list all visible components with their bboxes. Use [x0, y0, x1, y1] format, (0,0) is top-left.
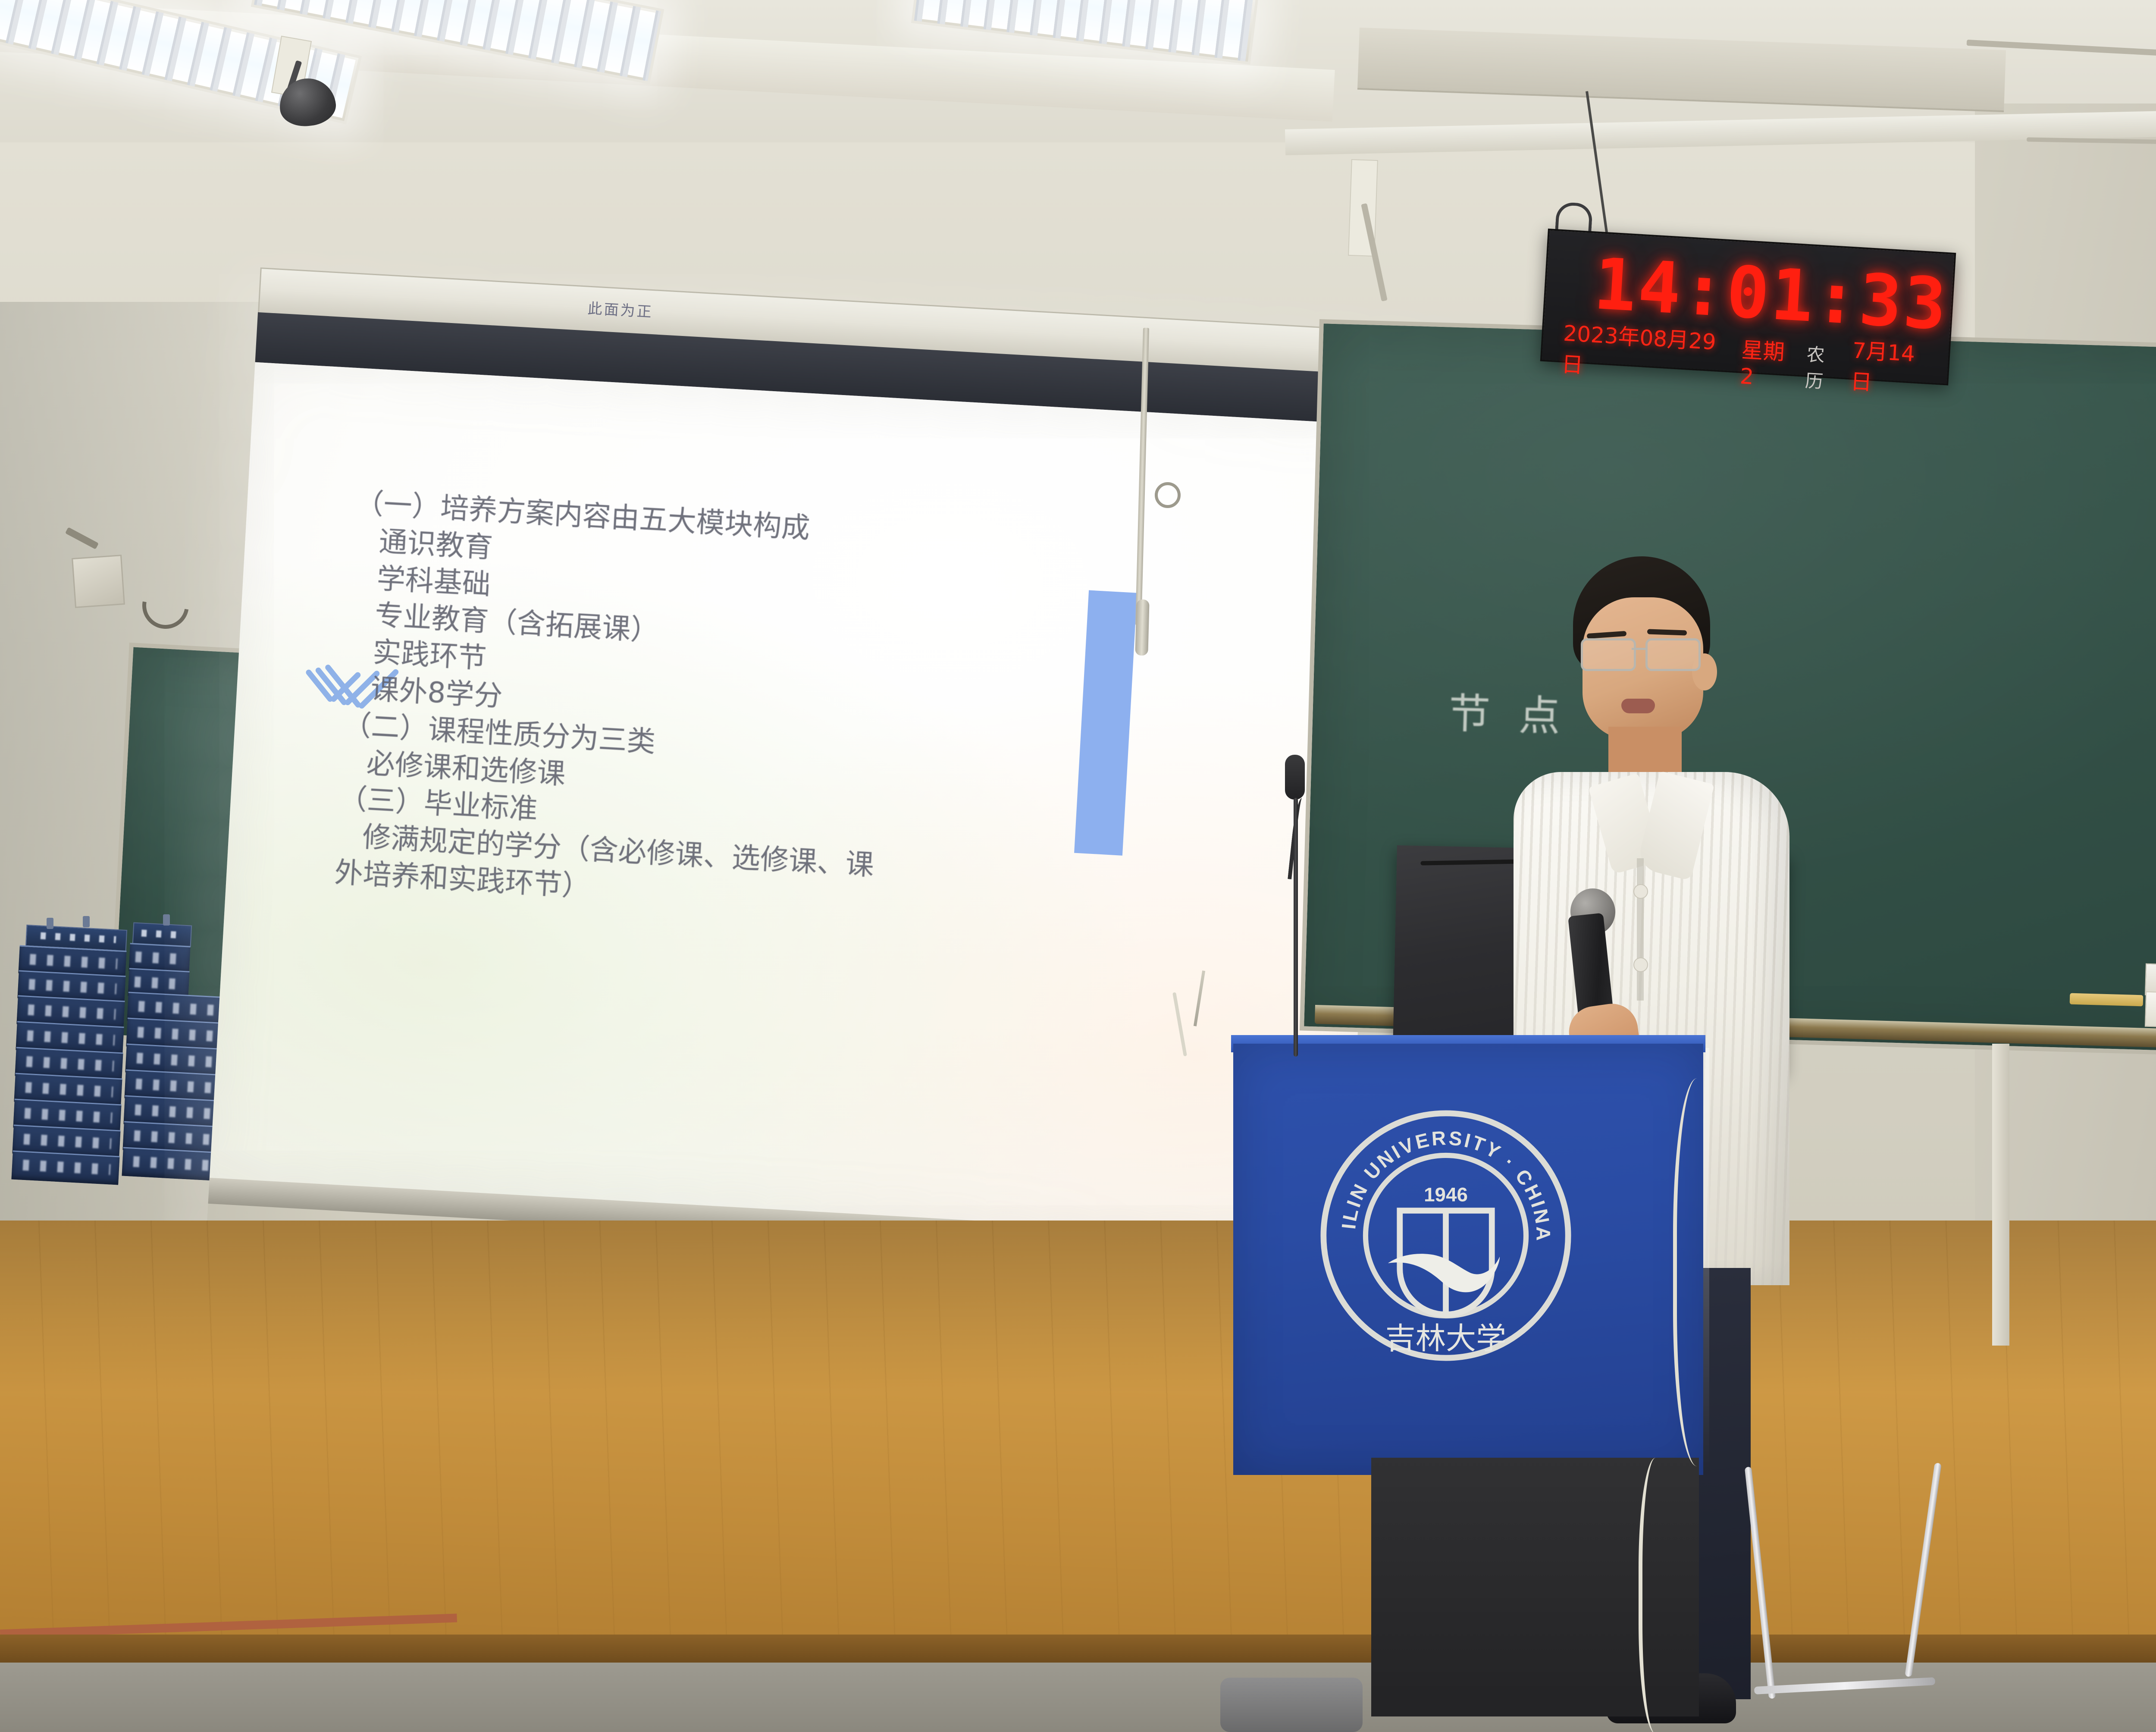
- slide-text-block: （一）培养方案内容由五大模块构成 通识教育 学科基础 专业教育（含拓展课） 实践…: [333, 484, 1260, 941]
- floor-power-cable: [1639, 1458, 1681, 1732]
- classroom-scene: 此面为正 （一）培养方案内容由五大模块构成: [0, 0, 2156, 1732]
- wall-speaker-icon: [72, 555, 125, 608]
- screen-pull-ring[interactable]: [1155, 482, 1181, 508]
- wall-board-hook: [47, 918, 53, 929]
- clock-weekday: 星期2: [1739, 333, 1798, 392]
- jilin-university-emblem-icon: JILIN UNIVERSITY · CHINA 1946 吉林大学: [1314, 1104, 1577, 1367]
- chalk-stick: [2070, 993, 2143, 1007]
- chalk-box[interactable]: [2145, 992, 2156, 1028]
- svg-text:JILIN UNIVERSITY · CHINA: JILIN UNIVERSITY · CHINA: [1314, 1104, 1554, 1243]
- glasses-lens: [1645, 638, 1701, 671]
- screen-surface: （一）培养方案内容由五大模块构成 通识教育 学科基础 专业教育（含拓展课） 实践…: [210, 362, 1392, 1244]
- screen-pull-handle[interactable]: [1135, 599, 1149, 656]
- wall-board-panel: [11, 1151, 119, 1185]
- led-clock: 14:01:33 2023年08月29日 星期2 农历 7月14日: [1540, 229, 1956, 386]
- glasses-lens: [1581, 638, 1636, 671]
- chevron-group-icon: [307, 668, 326, 668]
- clock-lunar-date: 7月14日: [1850, 333, 1935, 400]
- microphone-head-icon: [1285, 755, 1305, 800]
- clock-lunar-label: 农历: [1805, 340, 1843, 395]
- svg-text:1946: 1946: [1424, 1184, 1468, 1206]
- wall-board-header-text: [141, 929, 185, 939]
- floor-power-cable: [1673, 1078, 1733, 1466]
- glasses-icon: [1581, 638, 1710, 669]
- lower-floor: [0, 1663, 2156, 1732]
- presenter-shirt-placket: [1637, 858, 1644, 1001]
- glasses-bridge: [1632, 648, 1645, 650]
- clock-date: 2023年08月29日: [1561, 316, 1733, 388]
- stage-floor-shadow: [0, 1221, 2156, 1393]
- presenter-shirt-button: [1633, 884, 1648, 899]
- stage-front-edge: [0, 1635, 2156, 1665]
- presenter-mouth: [1621, 699, 1655, 713]
- wall-board-header-text: [41, 932, 116, 943]
- wall-board-hook: [83, 916, 90, 927]
- presenter-shirt-button: [1633, 957, 1648, 972]
- door-frame: [1992, 1044, 2009, 1346]
- podium-gooseneck-microphone[interactable]: [1289, 759, 1302, 1052]
- projection-screen: 此面为正 （一）培养方案内容由五大模块构成: [205, 298, 1395, 1326]
- svg-text:吉林大学: 吉林大学: [1385, 1321, 1507, 1356]
- wall-board-hook: [163, 914, 170, 926]
- microphone-stem: [1294, 798, 1298, 1057]
- podium-foot: [1220, 1678, 1363, 1732]
- screen-case-label: 此面为正: [587, 297, 654, 321]
